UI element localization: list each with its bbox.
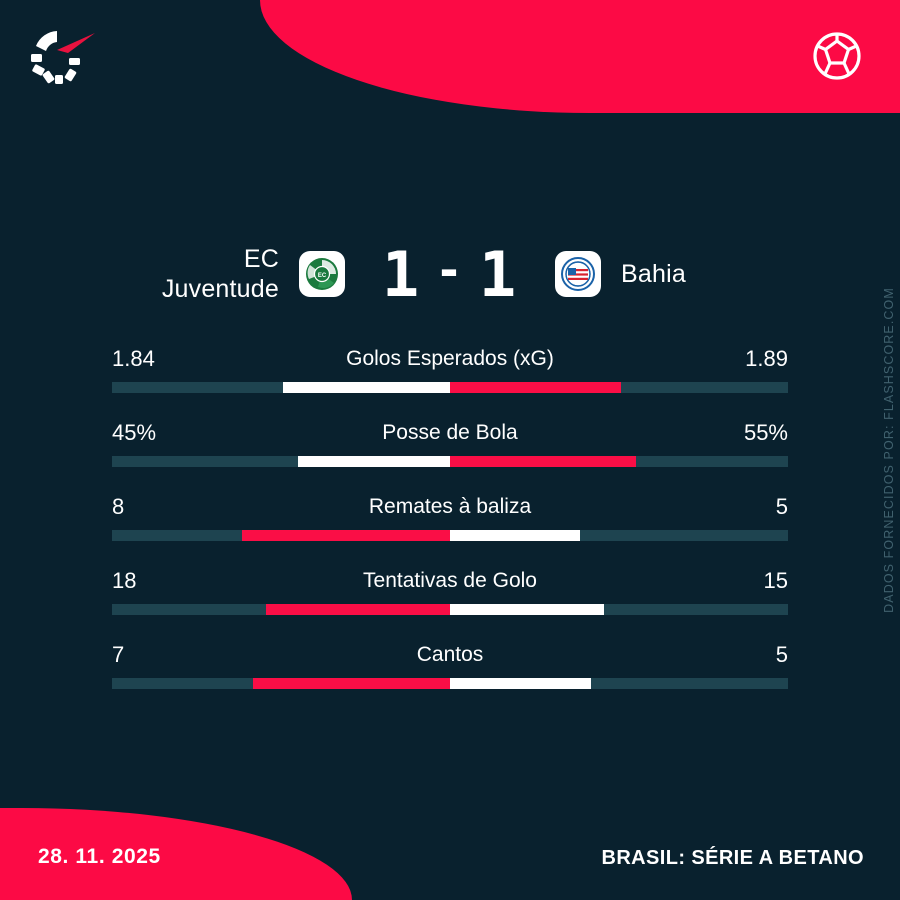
stat-bar-home-fill	[283, 382, 450, 393]
svg-text:EC: EC	[318, 273, 327, 279]
soccer-ball-icon	[809, 28, 865, 84]
stat-header: 7Cantos5	[112, 640, 788, 670]
home-team-name: EC Juventude	[129, 244, 299, 304]
match-date: 28. 11. 2025	[38, 845, 161, 869]
away-team-name: Bahia	[601, 259, 771, 289]
league-name: BRASIL: SÉRIE A BETANO	[601, 847, 864, 870]
stat-bar-away-fill	[450, 604, 604, 615]
bahia-crest-icon	[560, 256, 596, 292]
away-score: 1	[479, 238, 518, 311]
flashscore-speedometer-logo-icon	[24, 25, 96, 87]
stat-label: Golos Esperados (xG)	[112, 346, 788, 372]
header-red-banner	[260, 0, 900, 113]
stat-bar	[112, 382, 788, 393]
stat-bar-home-fill	[266, 604, 450, 615]
stat-header: 1.84Golos Esperados (xG)1.89	[112, 344, 788, 374]
header	[0, 0, 900, 118]
stat-header: 18Tentativas de Golo15	[112, 566, 788, 596]
stat-row: 8Remates à baliza5	[112, 492, 788, 541]
stat-bar	[112, 604, 788, 615]
score-separator: -	[421, 243, 479, 297]
home-team-crest: EC	[299, 251, 345, 297]
stat-bar-away-fill	[450, 678, 591, 689]
match-stats-card: EC Juventude EC 1 - 1	[0, 0, 900, 900]
stat-bar-away-fill	[450, 456, 636, 467]
stat-row: 45%Posse de Bola55%	[112, 418, 788, 467]
home-score: 1	[382, 238, 421, 311]
home-team-name-line2: Juventude	[129, 274, 279, 304]
stat-row: 18Tentativas de Golo15	[112, 566, 788, 615]
stat-bar-away-fill	[450, 382, 621, 393]
data-provider-credit: DADOS FORNECIDOS POR: FLASHSCORE.COM	[882, 287, 896, 613]
stat-bar-away-fill	[450, 530, 580, 541]
stat-bar-home-fill	[253, 678, 450, 689]
stat-label: Posse de Bola	[112, 420, 788, 446]
stat-label: Tentativas de Golo	[112, 568, 788, 594]
stat-header: 45%Posse de Bola55%	[112, 418, 788, 448]
stat-bar-home-fill	[298, 456, 450, 467]
stat-bar	[112, 456, 788, 467]
stat-header: 8Remates à baliza5	[112, 492, 788, 522]
home-team-name-line1: EC	[129, 244, 279, 274]
stat-bar-home-fill	[242, 530, 450, 541]
stat-row: 7Cantos5	[112, 640, 788, 689]
score: 1 - 1	[345, 238, 555, 311]
stat-label: Cantos	[112, 642, 788, 668]
juventude-crest-icon: EC	[304, 256, 340, 292]
stat-bar	[112, 530, 788, 541]
away-team-crest	[555, 251, 601, 297]
scoreline: EC Juventude EC 1 - 1	[0, 228, 900, 320]
stat-bar	[112, 678, 788, 689]
stat-label: Remates à baliza	[112, 494, 788, 520]
footer: 28. 11. 2025 BRASIL: SÉRIE A BETANO	[0, 790, 900, 900]
stats-list: 1.84Golos Esperados (xG)1.8945%Posse de …	[112, 344, 788, 714]
stat-row: 1.84Golos Esperados (xG)1.89	[112, 344, 788, 393]
